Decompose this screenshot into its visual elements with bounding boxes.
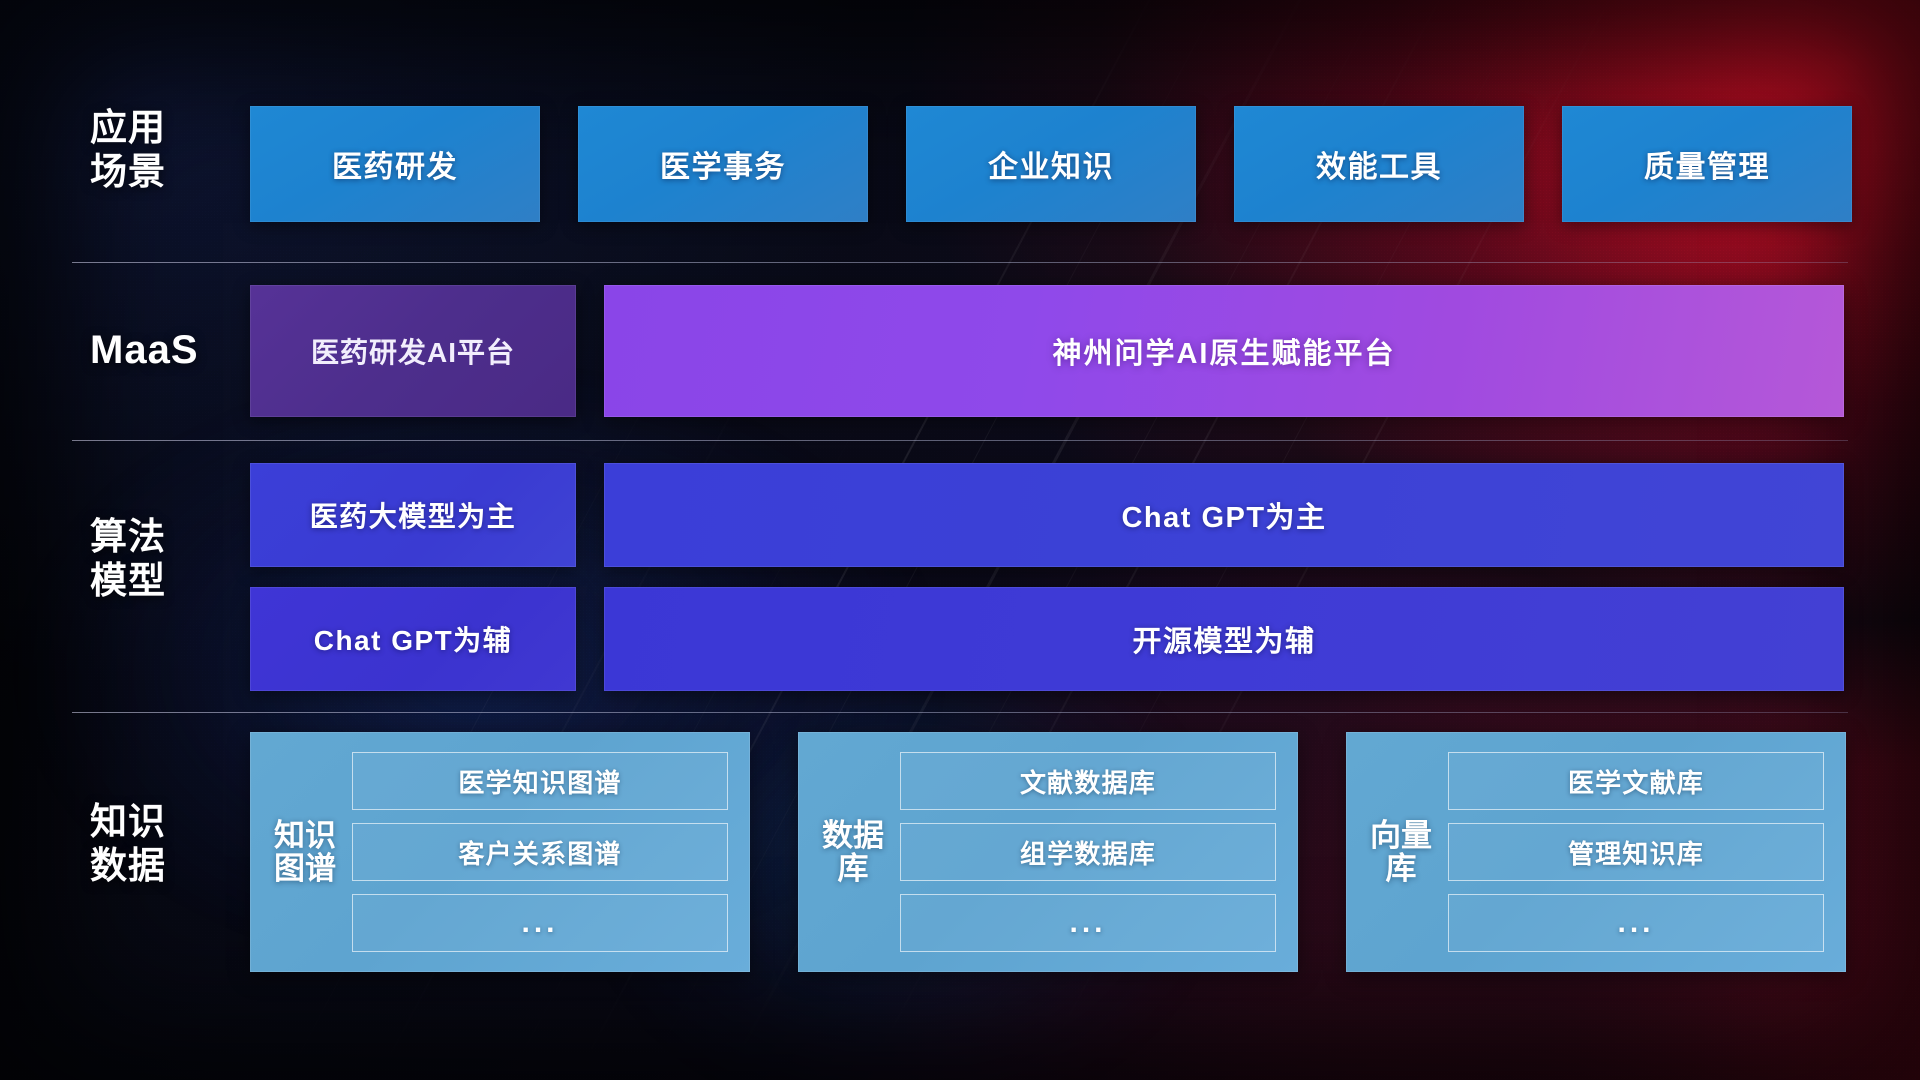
model-bar-chatgpt-primary[interactable]: Chat GPT为主 <box>604 463 1844 567</box>
knowledge-item-more-ellipsis[interactable]: ... <box>900 894 1276 952</box>
row-maas: MaaS 医药研发AI平台 神州问学AI原生赋能平台 <box>0 285 1920 417</box>
model-bar-pharma-llm-primary[interactable]: 医药大模型为主 <box>250 463 576 567</box>
architecture-diagram: 应用 场景 医药研发 医学事务 企业知识 效能工具 质量管理 MaaS 医药研发… <box>0 0 1920 1080</box>
knowledge-item-more-ellipsis[interactable]: ... <box>1448 894 1824 952</box>
knowledge-item-customer-relation-graph[interactable]: 客户关系图谱 <box>352 823 728 881</box>
row-label-line-1: 应用 <box>90 106 240 150</box>
row-application-scenarios: 应用 场景 医药研发 医学事务 企业知识 效能工具 质量管理 <box>0 106 1920 222</box>
knowledge-card-knowledge-graph[interactable]: 知识图谱 医学知识图谱 客户关系图谱 ... <box>250 732 750 972</box>
knowledge-item-more-ellipsis[interactable]: ... <box>352 894 728 952</box>
knowledge-item-literature-database[interactable]: 文献数据库 <box>900 752 1276 810</box>
knowledge-card-vector-store[interactable]: 向量库 医学文献库 管理知识库 ... <box>1346 732 1846 972</box>
row-label-line-1: 算法 <box>90 515 240 559</box>
knowledge-card-vertical-label: 数据库 <box>816 819 890 886</box>
maas-card-shenzhou-wenxue-platform[interactable]: 神州问学AI原生赋能平台 <box>604 285 1844 417</box>
model-bar-opensource-secondary[interactable]: 开源模型为辅 <box>604 587 1844 691</box>
row-label-line-2: 数据 <box>90 844 240 888</box>
row-label-knowledge-data: 知识 数据 <box>90 800 240 887</box>
knowledge-item-omics-database[interactable]: 组学数据库 <box>900 823 1276 881</box>
knowledge-card-item-list: 医学知识图谱 客户关系图谱 ... <box>342 752 728 952</box>
maas-card-drug-rd-ai-platform[interactable]: 医药研发AI平台 <box>250 285 576 417</box>
divider-scenarios-maas <box>72 262 1848 263</box>
row-label-line-1: 知识 <box>90 800 240 844</box>
row-label-maas: MaaS <box>90 327 240 374</box>
knowledge-card-vertical-label: 向量库 <box>1364 819 1438 886</box>
knowledge-item-medical-literature-store[interactable]: 医学文献库 <box>1448 752 1824 810</box>
knowledge-item-management-knowledge-store[interactable]: 管理知识库 <box>1448 823 1824 881</box>
model-left-column: 医药大模型为主 Chat GPT为辅 <box>250 463 576 691</box>
scenario-card-quality-management[interactable]: 质量管理 <box>1562 106 1852 222</box>
row-label-line-2: 模型 <box>90 559 240 603</box>
knowledge-card-vertical-label: 知识图谱 <box>268 819 342 886</box>
scenario-card-medical-affairs[interactable]: 医学事务 <box>578 106 868 222</box>
knowledge-card-track: 知识图谱 医学知识图谱 客户关系图谱 ... 数据库 文献数据库 组学数据库 .… <box>250 732 1846 972</box>
divider-maas-models <box>72 440 1848 441</box>
row-knowledge-data: 知识 数据 知识图谱 医学知识图谱 客户关系图谱 ... 数据库 文献数据库 组… <box>0 732 1920 972</box>
row-label-application-scenarios: 应用 场景 <box>90 106 240 193</box>
model-bar-chatgpt-secondary[interactable]: Chat GPT为辅 <box>250 587 576 691</box>
knowledge-card-database[interactable]: 数据库 文献数据库 组学数据库 ... <box>798 732 1298 972</box>
scenario-card-enterprise-knowledge[interactable]: 企业知识 <box>906 106 1196 222</box>
knowledge-card-item-list: 文献数据库 组学数据库 ... <box>890 752 1276 952</box>
scenario-card-track: 医药研发 医学事务 企业知识 效能工具 质量管理 <box>250 106 1852 222</box>
scenario-card-efficiency-tools[interactable]: 效能工具 <box>1234 106 1524 222</box>
model-right-column: Chat GPT为主 开源模型为辅 <box>604 463 1844 691</box>
knowledge-item-medical-knowledge-graph[interactable]: 医学知识图谱 <box>352 752 728 810</box>
knowledge-card-item-list: 医学文献库 管理知识库 ... <box>1438 752 1824 952</box>
row-algorithm-models: 算法 模型 医药大模型为主 Chat GPT为辅 Chat GPT为主 开源模型… <box>0 463 1920 691</box>
scenario-card-drug-rd[interactable]: 医药研发 <box>250 106 540 222</box>
divider-models-knowledge <box>72 712 1848 713</box>
row-label-algorithm-models: 算法 模型 <box>90 515 240 602</box>
row-label-line-2: 场景 <box>90 150 240 194</box>
